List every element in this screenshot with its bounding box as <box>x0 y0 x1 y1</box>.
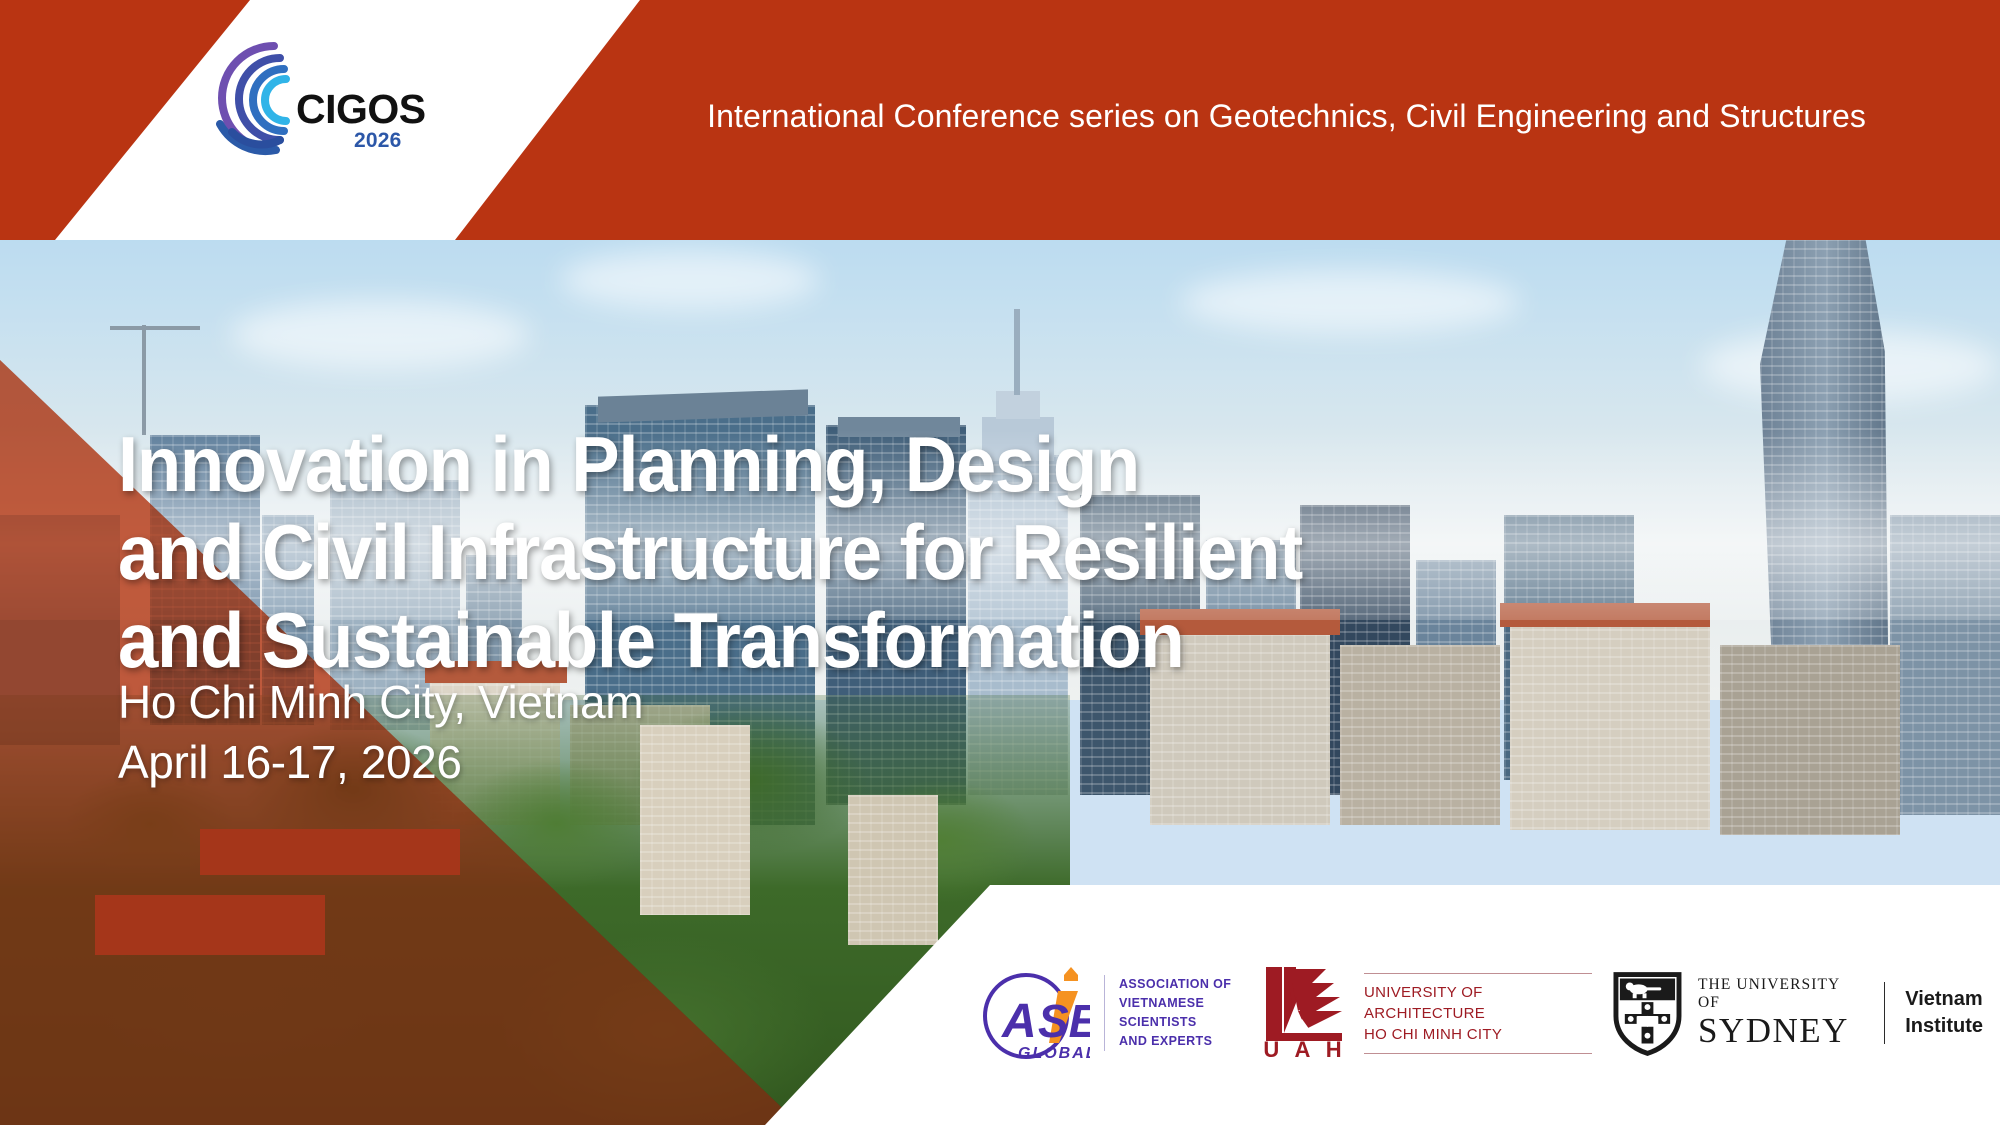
title-line-1: Innovation in Planning, Design <box>118 420 1327 508</box>
building <box>1510 620 1710 830</box>
institute-line-2: Institute <box>1905 1013 1983 1040</box>
banner-title: Innovation in Planning, Design and Civil… <box>118 420 1418 684</box>
cigos-wordmark: CIGOS <box>296 86 426 133</box>
svg-text:GLOBAL: GLOBAL <box>1018 1045 1090 1062</box>
uah-acronym: U A H <box>1262 1037 1348 1063</box>
event-location: Ho Chi Minh City, Vietnam <box>118 672 643 732</box>
conference-series-title: International Conference series on Geote… <box>630 98 1930 135</box>
event-dates: April 16-17, 2026 <box>118 732 643 792</box>
building <box>1720 645 1900 835</box>
avse-name-line-2: VIETNAMESE SCIENTISTS <box>1119 994 1260 1032</box>
uah-rule-bottom <box>1364 1053 1592 1054</box>
sydney-wordmark: THE UNIVERSITY OF SYDNEY <box>1698 976 1864 1050</box>
cloud <box>560 250 820 310</box>
institute-line-1: Vietnam <box>1905 986 1983 1013</box>
sponsor-university-of-architecture[interactable]: U A H UNIVERSITY OF ARCHITECTURE HO CHI … <box>1262 958 1592 1068</box>
cigos-year: 2026 <box>354 129 402 153</box>
uah-full-name: UNIVERSITY OF ARCHITECTURE HO CHI MINH C… <box>1364 973 1592 1054</box>
cloud <box>1180 270 1520 334</box>
banner-subtitle: Ho Chi Minh City, Vietnam April 16-17, 2… <box>118 672 643 792</box>
uah-name-line-2: HO CHI MINH CITY <box>1364 1024 1592 1045</box>
title-line-3: and Sustainable Transformation <box>118 596 1327 684</box>
svg-text:A: A <box>1001 995 1037 1048</box>
conference-banner: International Conference series on Geote… <box>0 0 2000 1125</box>
crane-arm <box>110 326 200 330</box>
building <box>640 725 750 915</box>
building-spire-tier <box>996 391 1040 419</box>
uah-logo-icon: U A H <box>1262 963 1348 1063</box>
sydney-vietnam-institute: Vietnam Institute <box>1905 986 1983 1040</box>
avse-name-line-1: ASSOCIATION OF <box>1119 975 1260 994</box>
avse-full-name: ASSOCIATION OF VIETNAMESE SCIENTISTS AND… <box>1104 975 1260 1051</box>
svg-text:SE: SE <box>1038 995 1090 1047</box>
sydney-line-the: THE UNIVERSITY OF <box>1698 976 1864 1012</box>
building-spire <box>1014 309 1020 395</box>
title-line-2: and Civil Infrastructure for Resilient <box>118 508 1327 596</box>
avse-name-line-3: AND EXPERTS <box>1119 1032 1260 1051</box>
crane <box>142 325 146 435</box>
sydney-line-name: SYDNEY <box>1698 1012 1864 1050</box>
sponsor-university-of-sydney[interactable]: THE UNIVERSITY OF SYDNEY Vietnam Institu… <box>1613 958 1983 1068</box>
sydney-shield-icon <box>1613 970 1682 1056</box>
cigos-logo[interactable]: CIGOS 2026 <box>196 28 396 168</box>
cloud <box>230 300 530 370</box>
building <box>848 795 938 945</box>
sydney-divider <box>1884 982 1885 1044</box>
avse-logo-icon: A SE GLOBAL <box>980 961 1090 1066</box>
sponsor-avse-global[interactable]: A SE GLOBAL ASSOCIATION OF VIETNAMESE SC… <box>980 958 1260 1068</box>
uah-name-line-1: UNIVERSITY OF ARCHITECTURE <box>1364 982 1592 1024</box>
